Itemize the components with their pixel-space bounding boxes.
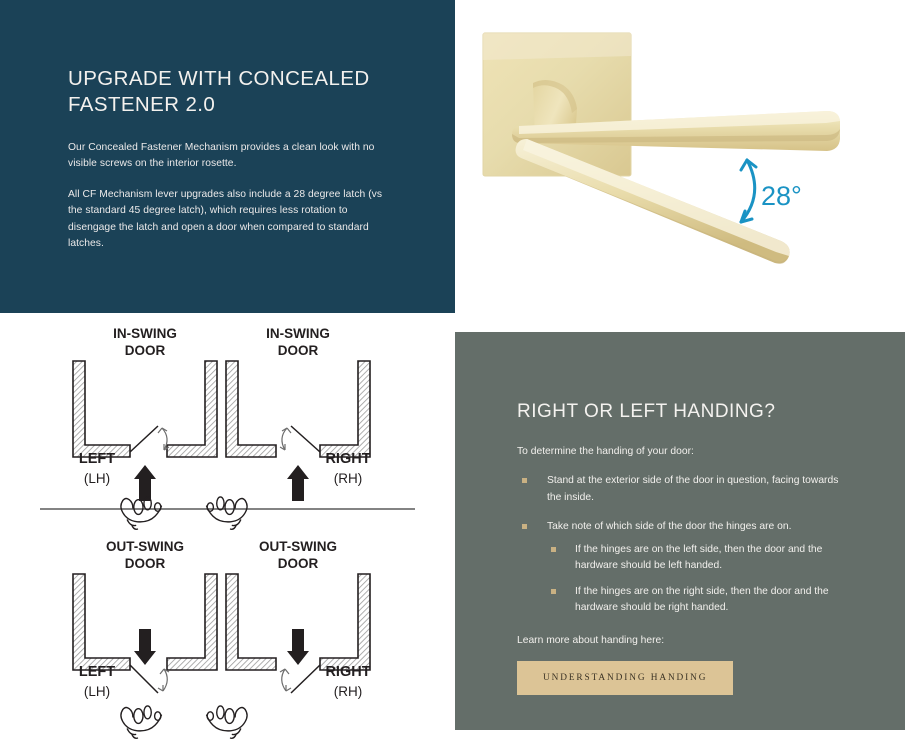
diagram-swing-label-2b: DOOR <box>278 343 319 358</box>
handing-info-lead: To determine the handing of your door: <box>517 444 847 460</box>
bullet-square-icon <box>551 547 556 552</box>
hand-icon-right-4 <box>207 706 247 738</box>
diagram-swing-label-3a: OUT-SWING <box>106 539 184 554</box>
hand-icon-right-2 <box>207 497 247 529</box>
handing-substep-right-text: If the hinges are on the right side, the… <box>575 586 829 614</box>
swing-arrow-4 <box>282 669 286 691</box>
view-direction-arrow-2 <box>287 465 309 501</box>
hand-label-in-left: LEFT <box>79 451 115 467</box>
hand-abbrev-out-left: (LH) <box>84 684 110 699</box>
handing-step-1: Stand at the exterior side of the door i… <box>517 473 847 506</box>
handing-info-content: RIGHT OR LEFT HANDING? To determine the … <box>517 400 847 695</box>
bullet-square-icon <box>522 478 527 483</box>
wall-right-4 <box>320 574 370 670</box>
view-direction-arrow-3 <box>134 629 156 665</box>
hand-label-out-left: LEFT <box>79 664 115 680</box>
wall-right-2 <box>320 361 370 457</box>
door-handing-diagrams: IN-SWING DOOR <box>0 313 455 747</box>
hand-abbrev-in-right: (RH) <box>334 471 363 486</box>
handing-substep-left-text: If the hinges are on the left side, then… <box>575 544 822 572</box>
hand-label-out-right: RIGHT <box>325 664 370 680</box>
hand-abbrev-out-right: (RH) <box>334 684 363 699</box>
view-direction-arrow-4 <box>287 629 309 665</box>
promo-paragraph-2: All CF Mechanism lever upgrades also inc… <box>68 187 388 253</box>
handing-diagram-svg: IN-SWING DOOR <box>0 313 455 747</box>
bullet-square-icon <box>551 589 556 594</box>
diagram-swing-label-4b: DOOR <box>278 556 319 571</box>
hand-icon-left-3 <box>121 706 161 738</box>
understanding-handing-button[interactable]: UNDERSTANDING HANDING <box>517 661 733 695</box>
handing-substeps-list: If the hinges are on the left side, then… <box>547 542 847 617</box>
door-leaf-3 <box>130 665 158 693</box>
handing-step-2-text: Take note of which side of the door the … <box>547 521 791 532</box>
diagram-swing-label-1a: IN-SWING <box>113 326 177 341</box>
promo-title: UPGRADE WITH CONCEALED FASTENER 2.0 <box>68 66 388 118</box>
swing-arrow-3 <box>163 669 167 691</box>
promo-paragraph-1: Our Concealed Fastener Mechanism provide… <box>68 140 388 173</box>
lever-bar-rotated-shape <box>516 139 790 264</box>
wall-left-2 <box>226 361 276 457</box>
diagram-swing-label-3b: DOOR <box>125 556 166 571</box>
handing-info-title: RIGHT OR LEFT HANDING? <box>517 400 847 424</box>
learn-more-text: Learn more about handing here: <box>517 633 847 649</box>
door-leaf-1 <box>130 426 158 452</box>
handing-step-2: Take note of which side of the door the … <box>517 519 847 617</box>
angle-label: 28° <box>761 181 802 211</box>
door-leaf-2 <box>291 426 320 452</box>
door-lever-illustration: 28° <box>455 0 905 313</box>
door-leaf-4 <box>291 665 320 693</box>
wall-right-1 <box>167 361 217 457</box>
concealed-fastener-promo-panel: UPGRADE WITH CONCEALED FASTENER 2.0 Our … <box>0 0 455 313</box>
hand-label-in-right: RIGHT <box>325 451 370 467</box>
wall-left-1 <box>73 361 130 457</box>
wall-right-3 <box>167 574 217 670</box>
handing-substep-left: If the hinges are on the left side, then… <box>547 542 847 575</box>
handing-step-1-text: Stand at the exterior side of the door i… <box>547 475 838 503</box>
hand-icon-left-1 <box>121 497 161 529</box>
diagram-swing-label-2a: IN-SWING <box>266 326 330 341</box>
diagram-swing-label-4a: OUT-SWING <box>259 539 337 554</box>
view-direction-arrow-1 <box>134 465 156 501</box>
wall-left-3 <box>73 574 130 670</box>
bullet-square-icon <box>522 524 527 529</box>
wall-left-4 <box>226 574 276 670</box>
door-lever-product-image: 28° <box>455 0 905 313</box>
handing-info-panel: RIGHT OR LEFT HANDING? To determine the … <box>455 332 905 730</box>
diagram-swing-label-1b: DOOR <box>125 343 166 358</box>
promo-content: UPGRADE WITH CONCEALED FASTENER 2.0 Our … <box>68 66 388 252</box>
hand-abbrev-in-left: (LH) <box>84 471 110 486</box>
handing-steps-list: Stand at the exterior side of the door i… <box>517 473 847 617</box>
handing-substep-right: If the hinges are on the right side, the… <box>547 584 847 617</box>
angle-annotation-28-degrees: 28° <box>741 160 802 222</box>
